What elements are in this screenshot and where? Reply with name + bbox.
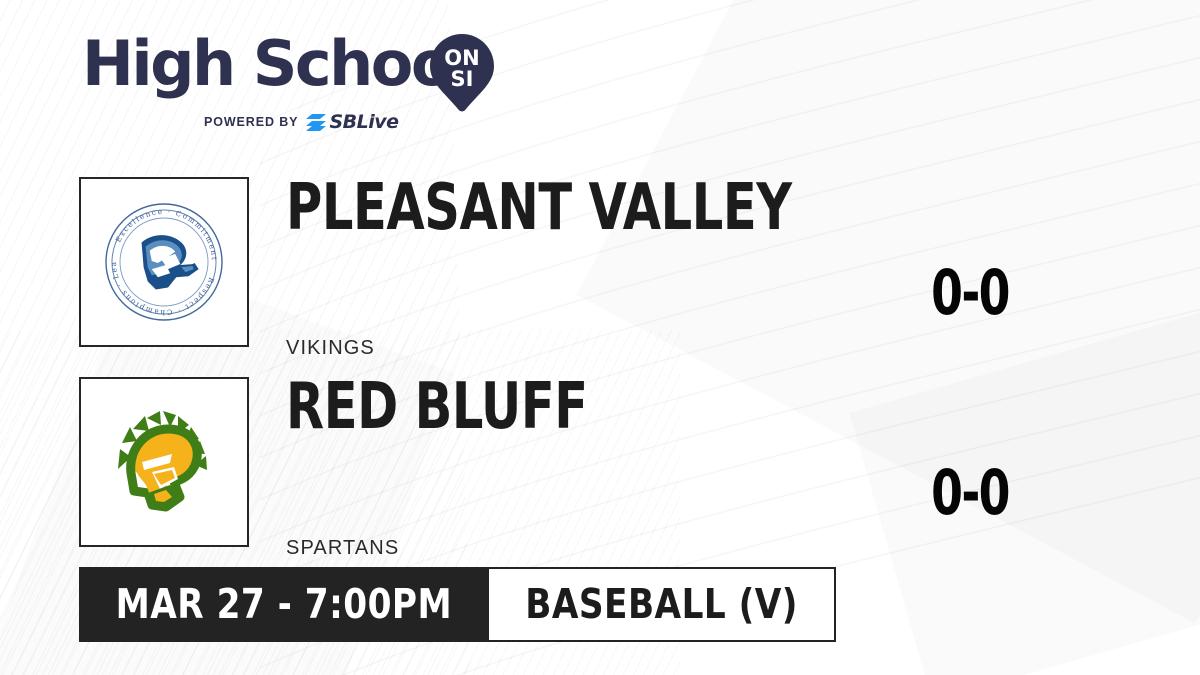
team-name-2: RED BLUFF xyxy=(286,375,588,439)
game-info-banner: MAR 27 - 7:00PM BASEBALL (V) xyxy=(79,567,836,642)
sblive-slash-icon xyxy=(305,113,327,132)
vikings-seal-icon: Excellence · Commitment · Integrity Resp… xyxy=(99,197,229,327)
sblive-wordmark: SBLive xyxy=(329,111,398,133)
pin-line-si: SI xyxy=(451,67,474,91)
game-sport: BASEBALL (V) xyxy=(525,584,798,625)
powered-by-row: POWERED BY SBLive xyxy=(204,111,399,133)
brand-header: High School ON SI POWERED BY SBLive xyxy=(82,33,512,133)
team-logo-pleasant-valley: Excellence · Commitment · Integrity Resp… xyxy=(79,177,249,347)
team-record-1: 0-0 xyxy=(888,262,1052,324)
team-mascot-2: SPARTANS xyxy=(286,537,399,560)
game-datetime-block: MAR 27 - 7:00PM xyxy=(79,567,489,642)
game-sport-block: BASEBALL (V) xyxy=(489,567,836,642)
spartans-helmet-icon xyxy=(99,397,229,527)
team-record-2: 0-0 xyxy=(888,462,1052,524)
on-si-pin-icon: ON SI xyxy=(430,34,494,112)
team-mascot-1: VIKINGS xyxy=(286,337,375,360)
game-datetime: MAR 27 - 7:00PM xyxy=(116,584,452,625)
team-name-1: PLEASANT VALLEY xyxy=(286,176,792,240)
powered-by-label: POWERED BY xyxy=(204,115,298,129)
matchup-graphic: High School ON SI POWERED BY SBLive xyxy=(0,0,1200,675)
sblive-logo: SBLive xyxy=(305,111,398,133)
team-logo-red-bluff xyxy=(79,377,249,547)
